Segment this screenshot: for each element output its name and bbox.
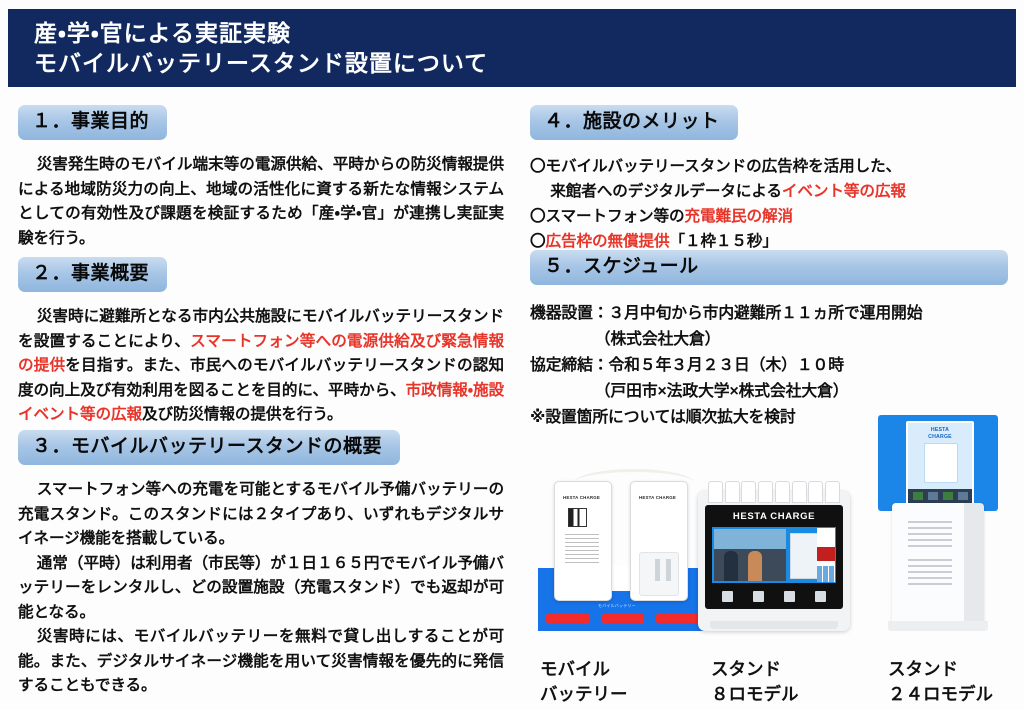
section-4-heading: ４．施設のメリット xyxy=(530,105,738,140)
icon-tray xyxy=(712,587,836,605)
plug-prong xyxy=(655,559,660,581)
tray-icon xyxy=(784,591,795,602)
caption-line: バッテリー xyxy=(540,682,628,707)
battery-slot xyxy=(725,481,740,503)
kiosk-screen-chip xyxy=(928,492,938,500)
plug-prong xyxy=(666,559,671,581)
kiosk-slot-bank xyxy=(908,559,952,585)
caption-line: スタンド xyxy=(711,657,799,682)
battery-slot xyxy=(825,481,840,503)
product-photo-row: HESTA CHARGE HESTA CHARGE モバイルバッテリー xyxy=(518,430,1024,709)
caption-stand-24: スタンド ２４ロモデル xyxy=(888,657,993,707)
battery-slot xyxy=(808,481,823,503)
screen-document-region xyxy=(790,533,818,579)
kiosk-screen-chip xyxy=(913,492,923,500)
kiosk-screen-card xyxy=(924,443,958,483)
bullet-3-text: 「１枠１５秒」 xyxy=(669,233,777,250)
kiosk-brand-line: HESTA xyxy=(908,427,972,434)
photo-stand-8: HESTA CHARGE xyxy=(698,479,850,631)
battery-slot xyxy=(792,481,807,503)
screen-grid-block xyxy=(817,566,835,582)
battery-spec-lines xyxy=(565,534,599,564)
screen-figure xyxy=(748,551,762,581)
caption-stand-8: スタンド ８ロモデル xyxy=(711,657,799,707)
left-column: １．事業目的 災害発生時のモバイル端末等の電源供給、平時からの防災情報提供による… xyxy=(0,100,516,709)
section-2: ２．事業概要 災害時に避難所となる市内公共施設にモバイルバッテリースタンドを設置… xyxy=(18,257,504,428)
connector-label-chip xyxy=(602,614,644,623)
bullet-marker-1: 〇 xyxy=(530,158,546,175)
kiosk-screen-bar xyxy=(908,489,972,503)
kiosk-brand-line: CHARGE xyxy=(908,434,972,441)
signage-screen xyxy=(712,527,836,583)
bullet-marker-2: 〇 xyxy=(530,208,546,225)
stand-foot xyxy=(710,621,838,629)
tray-icon xyxy=(815,591,826,602)
photo-mobile-battery: HESTA CHARGE HESTA CHARGE モバイルバッテリー xyxy=(538,471,714,631)
section-3-heading: ３．モバイルバッテリースタンドの概要 xyxy=(18,430,400,465)
bullet-3-highlight: 広告枠の無償提供 xyxy=(546,233,670,250)
battery-brand-label: HESTA CHARGE xyxy=(639,495,676,500)
battery-slot xyxy=(708,481,723,503)
section-5: ５．スケジュール 機器設置：３月中旬から市内避難所１１ヵ所で運用開始 （株式会社… xyxy=(530,250,1008,431)
kiosk-screen-chip xyxy=(958,492,968,500)
bullet-marker-3: 〇 xyxy=(530,233,546,250)
section-1-body: 災害発生時のモバイル端末等の電源供給、平時からの防災情報提供による地域防災力の向… xyxy=(18,153,504,251)
schedule-line: 協定締結：令和５年３月２３日（木）１０時 xyxy=(530,353,1008,379)
title-banner: 産・学・官による実証実験 モバイルバッテリースタンド設置について xyxy=(8,9,1016,87)
section-2-body: 災害時に避難所となる市内公共施設にモバイルバッテリースタンドを設置することにより… xyxy=(18,305,504,428)
section-3-paragraph-2: 通常（平時）は利用者（市民等）が１日１６５円でモバイル予備バッテリーをレンタルし… xyxy=(18,552,504,626)
right-column: ４．施設のメリット 〇モバイルバッテリースタンドの広告枠を活用した、 来館者への… xyxy=(516,100,1024,709)
screen-alert-block xyxy=(817,547,835,561)
section-2-heading: ２．事業概要 xyxy=(18,257,167,292)
section-5-heading: ５．スケジュール xyxy=(530,250,1008,285)
section-5-schedule: 機器設置：３月中旬から市内避難所１１ヵ所で運用開始 （株式会社大倉） 協定締結：… xyxy=(530,301,1008,431)
connector-label-chip xyxy=(656,614,700,623)
schedule-line: （戸田市×法政大学×株式会社大倉） xyxy=(530,379,1008,405)
caption-line: モバイル xyxy=(540,657,628,682)
section-3: ３．モバイルバッテリースタンドの概要 スマートフォン等への充電を可能とするモバイ… xyxy=(18,430,504,699)
caption-line: ８ロモデル xyxy=(711,682,799,707)
caption-mobile-battery: モバイル バッテリー xyxy=(540,657,628,707)
screen-figure xyxy=(724,551,738,581)
battery-slot xyxy=(741,481,756,503)
photo-stand-24: HESTA CHARGE xyxy=(874,415,1002,631)
list-item: 〇モバイルバッテリースタンドの広告枠を活用した、 xyxy=(530,154,1000,179)
battery-unit-back: HESTA CHARGE xyxy=(630,481,688,601)
kiosk-brand-label: HESTA CHARGE xyxy=(908,427,972,441)
stand-brand-label: HESTA CHARGE xyxy=(705,511,843,522)
section-1-paragraph: 災害発生時のモバイル端末等の電源供給、平時からの防災情報提供による地域防災力の向… xyxy=(18,153,504,251)
battery-brand-label: HESTA CHARGE xyxy=(563,495,600,500)
section-2-text-3: 及び防災情報の提供を行う。 xyxy=(142,406,342,423)
list-item: 来館者へのデジタルデータによるイベント等の広報 xyxy=(530,179,1000,204)
bullet-2-highlight: 充電難民の解消 xyxy=(684,208,792,225)
section-2-paragraph: 災害時に避難所となる市内公共施設にモバイルバッテリースタンドを設置することにより… xyxy=(18,305,504,428)
bullet-1-sub-highlight: イベント等の広報 xyxy=(782,183,906,200)
caption-line: スタンド xyxy=(888,657,993,682)
list-item: 〇スマートフォン等の充電難民の解消 xyxy=(530,204,1000,229)
bullet-1-text: モバイルバッテリースタンドの広告枠を活用した、 xyxy=(546,158,902,175)
tray-icon xyxy=(722,591,733,602)
kiosk-display: HESTA CHARGE xyxy=(906,421,974,505)
banner-title-line1: 産・学・官による実証実験 xyxy=(34,18,1016,48)
banner-title-line2: モバイルバッテリースタンド設置について xyxy=(34,48,1016,78)
kiosk-body xyxy=(892,503,984,625)
qr-code-icon xyxy=(568,508,587,527)
slide-page: 産・学・官による実証実験 モバイルバッテリースタンド設置について １．事業目的 … xyxy=(0,0,1024,709)
section-1-heading: １．事業目的 xyxy=(18,105,167,140)
section-3-paragraph-3: 災害時には、モバイルバッテリーを無料で貸し出しすることが可能。また、デジタルサイ… xyxy=(18,625,504,699)
battery-slot xyxy=(775,481,790,503)
section-3-body: スマートフォン等への充電を可能とするモバイル予備バッテリーの充電スタンド。このス… xyxy=(18,478,504,699)
kiosk-slot-bank xyxy=(908,521,952,547)
section-3-paragraph-1: スマートフォン等への充電を可能とするモバイル予備バッテリーの充電スタンド。このス… xyxy=(18,478,504,552)
connector-label-chip xyxy=(546,614,590,623)
section-1: １．事業目的 災害発生時のモバイル端末等の電源供給、平時からの防災情報提供による… xyxy=(18,105,504,251)
battery-slot-row xyxy=(708,481,840,503)
bullet-2-text: スマートフォン等の xyxy=(546,208,685,225)
section-4-list: 〇モバイルバッテリースタンドの広告枠を活用した、 来館者へのデジタルデータによる… xyxy=(530,154,1000,254)
tray-icon xyxy=(753,591,764,602)
battery-unit-front: HESTA CHARGE xyxy=(554,481,612,601)
kiosk-base xyxy=(888,621,988,631)
section-4: ４．施設のメリット 〇モバイルバッテリースタンドの広告枠を活用した、 来館者への… xyxy=(530,105,1000,254)
backdrop-caption: モバイルバッテリー xyxy=(598,603,636,609)
schedule-line: 機器設置：３月中旬から市内避難所１１ヵ所で運用開始 xyxy=(530,301,1008,327)
kiosk-screen-chip xyxy=(943,492,953,500)
stand-front-panel: HESTA CHARGE xyxy=(705,505,843,609)
bullet-1-sub-text: 来館者へのデジタルデータによる xyxy=(550,183,782,200)
screen-photo-region xyxy=(714,529,786,581)
battery-slot xyxy=(758,481,773,503)
schedule-line: （株式会社大倉） xyxy=(530,327,1008,353)
caption-line: ２４ロモデル xyxy=(888,682,993,707)
battery-plug xyxy=(639,552,679,596)
